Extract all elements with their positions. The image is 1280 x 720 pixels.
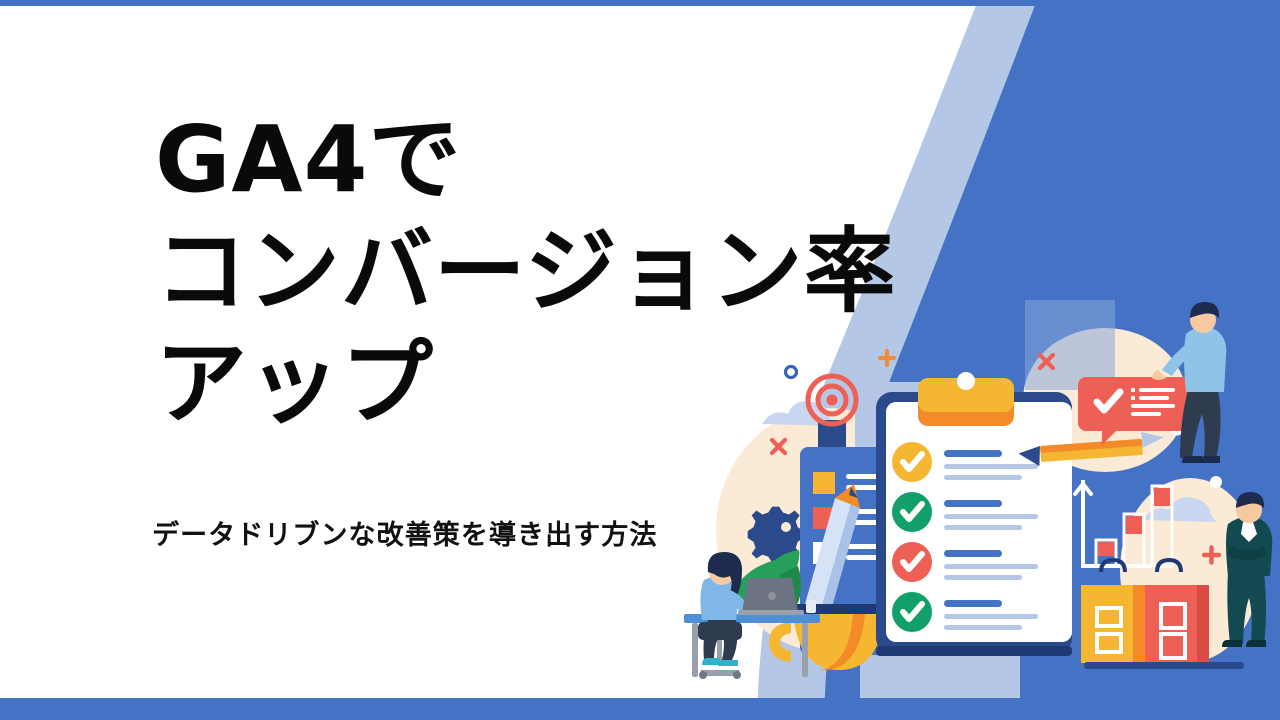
- desk-leg-right: [802, 623, 808, 677]
- laptop-base: [738, 610, 804, 615]
- man-casual-shirt: [1184, 327, 1226, 392]
- woman-shoe: [702, 658, 720, 665]
- page-subtitle: データドリブンな改善策を導き出す方法: [152, 519, 657, 553]
- task-swatch-1: [813, 472, 835, 494]
- desk-leg-left: [692, 623, 698, 677]
- man-suit-shoe-b: [1246, 640, 1266, 647]
- bottom-accent-strip: [0, 698, 1280, 720]
- clipboard-checklist: [876, 372, 1072, 656]
- title-line-2: コンバージョン率: [155, 216, 897, 328]
- man-casual-shoe-b: [1200, 456, 1220, 463]
- clipboard-clip-hole: [957, 372, 975, 390]
- pale-slab-b: [1025, 300, 1115, 390]
- man-casual-legs: [1180, 390, 1221, 458]
- ground-line: [1084, 662, 1244, 669]
- man-casual-shoe-a: [1182, 456, 1202, 463]
- man-suit-shoe-a: [1222, 640, 1242, 647]
- desk-mug: [806, 600, 816, 613]
- slide-canvas: GA4で コンバージョン率 アップ データドリブンな改善策を導き出す方法: [0, 0, 1280, 720]
- title-line-3: アップ: [155, 328, 897, 440]
- page-title: GA4で コンバージョン率 アップ: [155, 104, 897, 440]
- top-accent-strip: [0, 0, 1280, 6]
- clipboard-shadow: [876, 646, 1072, 656]
- title-line-1: GA4で: [155, 104, 897, 216]
- woman-shoe-2: [718, 660, 738, 666]
